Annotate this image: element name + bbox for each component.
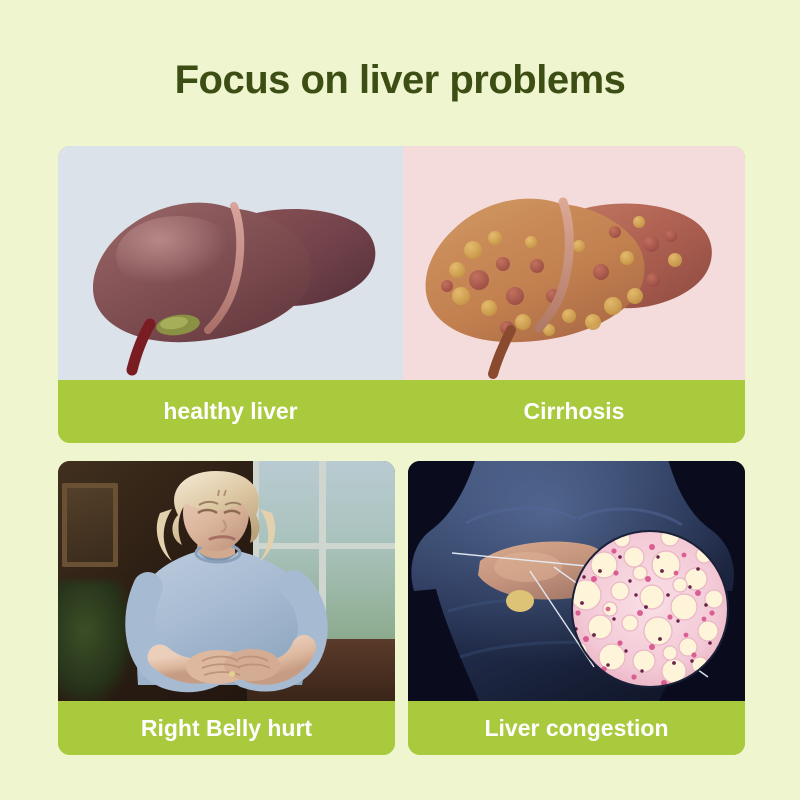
liver-congestion-image xyxy=(408,461,745,701)
top-row-label-bar: healthy liver Cirrhosis xyxy=(58,380,745,443)
cirrhosis-label: Cirrhosis xyxy=(403,380,745,443)
liver-congestion-label: Liver congestion xyxy=(408,701,745,755)
right-belly-hurt-image xyxy=(58,461,395,701)
healthy-liver-image xyxy=(58,146,403,380)
card-liver-congestion: Liver congestion xyxy=(408,461,745,755)
cirrhosis-liver-image xyxy=(403,146,745,380)
right-belly-hurt-label: Right Belly hurt xyxy=(58,701,395,755)
woman-figure xyxy=(102,469,352,701)
healthy-liver-icon xyxy=(58,146,403,380)
page-title: Focus on liver problems xyxy=(0,58,800,103)
top-row-card-group: healthy liver Cirrhosis xyxy=(58,146,745,443)
card-right-belly-hurt: Right Belly hurt xyxy=(58,461,395,755)
fatty-liver-anatomy-icon xyxy=(408,461,745,701)
cirrhotic-liver-icon xyxy=(403,146,745,380)
healthy-liver-label: healthy liver xyxy=(58,380,403,443)
